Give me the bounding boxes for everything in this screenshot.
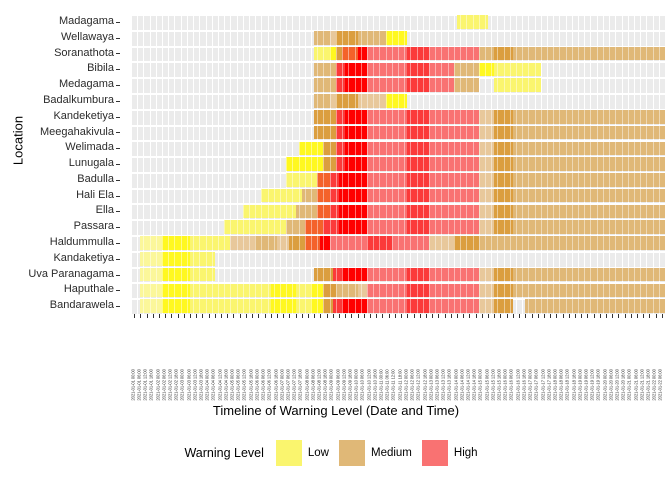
x-axis-tick <box>327 314 328 318</box>
gridline-vertical-overlay <box>653 14 654 314</box>
gridline-vertical-overlay <box>628 14 629 314</box>
x-axis-label: 2021-01-19 00:00 <box>578 370 583 401</box>
x-axis-tick <box>370 314 371 318</box>
gridline-vertical-overlay <box>584 14 585 314</box>
heatmap-tile <box>513 47 665 61</box>
x-axis-tick <box>147 314 148 318</box>
y-axis-label: Badulla <box>77 172 114 188</box>
legend-label: Low <box>308 447 329 459</box>
x-axis-label: 2021-01-06 12:00 <box>268 370 273 401</box>
x-axis-tick <box>569 314 570 318</box>
x-axis-tick <box>463 314 464 318</box>
gridline-vertical-overlay <box>292 14 293 314</box>
heatmap-tile <box>162 268 190 282</box>
x-axis-label: 2021-01-10 12:00 <box>367 370 372 401</box>
x-axis-tick <box>227 314 228 318</box>
x-axis-label: 2021-01-21 12:00 <box>640 370 645 401</box>
x-axis-tick <box>494 314 495 318</box>
gridline-vertical-overlay <box>622 14 623 314</box>
gridline-vertical-overlay <box>528 14 529 314</box>
gridline-vertical-overlay <box>243 14 244 314</box>
y-axis-tick <box>116 148 120 149</box>
y-axis-tick <box>116 243 120 244</box>
x-axis-tick <box>507 314 508 318</box>
gridline-vertical-overlay <box>640 14 641 314</box>
y-axis-label: Medagama <box>59 77 114 93</box>
gridline-vertical-overlay <box>174 14 175 314</box>
x-axis-label: 2021-01-20 00:00 <box>603 370 608 401</box>
x-axis-tick <box>401 314 402 318</box>
gridline-vertical-overlay <box>398 14 399 314</box>
heatmap-tile <box>336 63 345 77</box>
y-axis-label: Bandarawela <box>50 298 114 314</box>
x-axis-label: 2021-01-12 06:00 <box>411 370 416 401</box>
x-axis-tick <box>351 314 352 318</box>
x-axis-label: 2021-01-16 06:00 <box>510 370 515 401</box>
heatmap-tile <box>333 299 342 313</box>
x-axis-tick <box>296 314 297 318</box>
x-axis-tick <box>246 314 247 318</box>
gridline-vertical-overlay <box>317 14 318 314</box>
heatmap-tile <box>339 205 367 219</box>
x-axis-tick <box>618 314 619 318</box>
x-axis-label: 2021-01-14 00:00 <box>454 370 459 401</box>
gridline-vertical-overlay <box>473 14 474 314</box>
x-axis-tick <box>550 314 551 318</box>
gridline-vertical-overlay <box>646 14 647 314</box>
x-axis-tick <box>289 314 290 318</box>
x-axis-label: 2021-01-08 06:00 <box>311 370 316 401</box>
legend-key <box>422 440 448 466</box>
gridline-vertical-overlay <box>355 14 356 314</box>
x-axis-tick <box>625 314 626 318</box>
gridline-vertical-overlay <box>193 14 194 314</box>
x-axis-tick <box>339 314 340 318</box>
gridline-vertical-overlay <box>361 14 362 314</box>
y-axis-tick <box>116 211 120 212</box>
x-axis-tick <box>395 314 396 318</box>
legend-swatch-low <box>276 440 302 466</box>
gridline-vertical-overlay <box>311 14 312 314</box>
x-axis-label: 2021-01-05 00:00 <box>230 370 235 401</box>
y-axis-label: Ella <box>96 203 114 219</box>
y-axis-tick <box>116 69 120 70</box>
x-axis-label: 2021-01-12 18:00 <box>423 370 428 401</box>
x-axis-ticks <box>131 314 665 318</box>
x-axis-tick <box>451 314 452 318</box>
heatmap-tile <box>358 47 367 61</box>
x-axis-tick <box>587 314 588 318</box>
heatmap-tile <box>513 157 665 171</box>
y-axis-label: Soranathota <box>54 46 114 62</box>
y-axis-tick <box>116 180 120 181</box>
gridline-vertical-overlay <box>572 14 573 314</box>
x-axis-label: 2021-01-08 00:00 <box>305 370 310 401</box>
y-axis-tick-labels: MadagamaWellawayaSoranathotaBibilaMedaga… <box>0 14 122 314</box>
x-axis-label: 2021-01-01 06:00 <box>137 370 142 401</box>
gridline-vertical-overlay <box>299 14 300 314</box>
gridline-vertical-overlay <box>417 14 418 314</box>
y-axis-label: Uva Paranagama <box>28 267 114 283</box>
x-axis-label: 2021-01-10 06:00 <box>361 370 366 401</box>
y-axis-label: Lunugala <box>69 156 114 172</box>
x-axis-label: 2021-01-03 06:00 <box>187 370 192 401</box>
x-axis-tick <box>426 314 427 318</box>
x-axis-label: 2021-01-06 18:00 <box>274 370 279 401</box>
x-axis-tick <box>277 314 278 318</box>
heatmap-tile <box>320 236 329 250</box>
gridline-vertical-overlay <box>249 14 250 314</box>
y-axis-label: Haputhale <box>64 282 114 298</box>
x-axis-label: 2021-01-04 12:00 <box>218 370 223 401</box>
gridline-vertical-overlay <box>261 14 262 314</box>
x-axis-tick <box>240 314 241 318</box>
gridline-vertical-overlay <box>559 14 560 314</box>
x-axis-tick <box>333 314 334 318</box>
x-axis-label: 2021-01-22 06:00 <box>659 370 664 401</box>
x-axis-tick <box>265 314 266 318</box>
legend-item[interactable]: Medium <box>339 440 412 466</box>
x-axis-label: 2021-01-16 12:00 <box>516 370 521 401</box>
heatmap-tile <box>162 299 190 313</box>
gridline-vertical-overlay <box>237 14 238 314</box>
x-axis-label: 2021-01-10 18:00 <box>373 370 378 401</box>
y-axis-label: Kandeketiya <box>53 109 114 125</box>
x-axis-label: 2021-01-02 12:00 <box>168 370 173 401</box>
y-axis-tick <box>116 227 120 228</box>
x-axis-label: 2021-01-20 06:00 <box>609 370 614 401</box>
gridline-vertical-overlay <box>435 14 436 314</box>
x-axis-tick <box>202 314 203 318</box>
heatmap-tile <box>286 173 317 187</box>
x-axis-tick <box>358 314 359 318</box>
gridline-vertical-overlay <box>305 14 306 314</box>
x-axis-tick <box>252 314 253 318</box>
legend-key <box>339 440 365 466</box>
legend-swatch-medium <box>339 440 365 466</box>
x-axis-label: 2021-01-02 00:00 <box>156 370 161 401</box>
gridline-vertical-overlay <box>392 14 393 314</box>
gridline-vertical-overlay <box>522 14 523 314</box>
gridline-vertical-overlay <box>504 14 505 314</box>
gridline-vertical-overlay <box>162 14 163 314</box>
x-axis-label: 2021-01-01 18:00 <box>150 370 155 401</box>
y-axis-label: Meegahakivula <box>40 125 114 141</box>
x-axis-label: 2021-01-15 18:00 <box>497 370 502 401</box>
gridline-vertical-overlay <box>423 14 424 314</box>
x-axis-tick <box>376 314 377 318</box>
gridline-vertical-overlay <box>609 14 610 314</box>
x-axis-label: 2021-01-12 12:00 <box>417 370 422 401</box>
heatmap-tile <box>330 189 339 203</box>
y-axis-tick <box>116 38 120 39</box>
legend-item[interactable]: Low <box>276 440 329 466</box>
heatmap-tile <box>513 268 665 282</box>
x-axis-tick <box>190 314 191 318</box>
y-axis-tick <box>116 85 120 86</box>
x-axis-tick <box>414 314 415 318</box>
x-axis-tick <box>308 314 309 318</box>
x-axis-tick <box>656 314 657 318</box>
x-axis-tick <box>302 314 303 318</box>
heatmap-tile <box>513 173 665 187</box>
x-axis-tick <box>389 314 390 318</box>
gridline-vertical-overlay <box>230 14 231 314</box>
gridline-vertical-overlay <box>373 14 374 314</box>
x-axis-label: 2021-01-18 12:00 <box>566 370 571 401</box>
x-axis-label: 2021-01-17 00:00 <box>529 370 534 401</box>
heatmap-tile <box>358 284 367 298</box>
x-axis-label: 2021-01-08 12:00 <box>317 370 322 401</box>
gridline-vertical-overlay <box>379 14 380 314</box>
gridline-vertical-overlay <box>143 14 144 314</box>
gridline-vertical-overlay <box>156 14 157 314</box>
gridline-vertical-overlay <box>590 14 591 314</box>
x-axis-tick <box>314 314 315 318</box>
x-axis-label: 2021-01-06 06:00 <box>262 370 267 401</box>
x-axis-tick <box>407 314 408 318</box>
heatmap-tile <box>336 142 345 156</box>
x-axis-label: 2021-01-21 00:00 <box>628 370 633 401</box>
x-axis-tick <box>519 314 520 318</box>
x-axis-label: 2021-01-01 12:00 <box>144 370 149 401</box>
heatmap-tile <box>513 205 665 219</box>
x-axis-label: 2021-01-18 00:00 <box>553 370 558 401</box>
x-axis-tick <box>320 314 321 318</box>
x-axis-tick <box>283 314 284 318</box>
gridline-vertical-overlay <box>168 14 169 314</box>
x-axis-label: 2021-01-16 18:00 <box>522 370 527 401</box>
heatmap-tile <box>336 126 345 140</box>
chart-root: Location MadagamaWellawayaSoranathotaBib… <box>0 0 672 480</box>
x-axis-label: 2021-01-11 18:00 <box>398 370 403 401</box>
x-axis-tick <box>525 314 526 318</box>
x-axis-tick <box>513 314 514 318</box>
x-axis-tick <box>209 314 210 318</box>
x-axis-tick <box>532 314 533 318</box>
legend-swatch-high <box>422 440 448 466</box>
gridline-vertical-overlay <box>274 14 275 314</box>
heatmap-tile <box>162 284 190 298</box>
gridline-vertical-overlay <box>137 14 138 314</box>
y-axis-tick <box>116 290 120 291</box>
x-axis-tick <box>215 314 216 318</box>
x-axis-tick <box>649 314 650 318</box>
x-axis-tick <box>637 314 638 318</box>
x-axis-tick <box>643 314 644 318</box>
x-axis-label: 2021-01-09 00:00 <box>330 370 335 401</box>
y-axis-tick <box>116 164 120 165</box>
heatmap-tile <box>339 189 367 203</box>
x-axis-label: 2021-01-09 12:00 <box>342 370 347 401</box>
gridline-vertical-overlay <box>466 14 467 314</box>
y-axis-label: Haldummulla <box>50 235 114 251</box>
heatmap-tile <box>358 31 386 45</box>
x-axis-label: 2021-01-03 12:00 <box>193 370 198 401</box>
y-axis-tick <box>116 259 120 260</box>
y-axis-tick <box>116 196 120 197</box>
gridline-vertical-overlay <box>541 14 542 314</box>
heatmap-tile <box>336 78 345 92</box>
x-axis-tick <box>600 314 601 318</box>
gridline-vertical-overlay <box>255 14 256 314</box>
x-axis-label: 2021-01-20 12:00 <box>615 370 620 401</box>
legend-label: Medium <box>371 447 412 459</box>
legend-label: High <box>454 447 478 459</box>
x-axis-label: 2021-01-04 18:00 <box>224 370 229 401</box>
y-axis-label: Welimada <box>65 140 114 156</box>
heatmap-tile <box>513 220 665 234</box>
x-axis-label: 2021-01-06 00:00 <box>255 370 260 401</box>
heatmap-tile <box>513 126 665 140</box>
gridline-vertical-overlay <box>224 14 225 314</box>
gridline-vertical-overlay <box>150 14 151 314</box>
x-axis-label: 2021-01-07 18:00 <box>299 370 304 401</box>
heatmap-tile <box>330 173 339 187</box>
gridline-vertical-overlay <box>348 14 349 314</box>
x-axis-label: 2021-01-09 18:00 <box>348 370 353 401</box>
gridline-vertical-overlay <box>429 14 430 314</box>
x-axis-tick <box>445 314 446 318</box>
gridline-vertical-overlay <box>199 14 200 314</box>
x-axis-label: 2021-01-13 18:00 <box>448 370 453 401</box>
gridline-vertical-overlay <box>615 14 616 314</box>
gridline-vertical-overlay <box>460 14 461 314</box>
x-axis-tick <box>196 314 197 318</box>
x-axis-label: 2021-01-13 06:00 <box>435 370 440 401</box>
gridline-vertical-overlay <box>181 14 182 314</box>
heatmap-tile <box>513 142 665 156</box>
x-axis-tick <box>606 314 607 318</box>
x-axis-label: 2021-01-15 00:00 <box>479 370 484 401</box>
x-axis-tick <box>594 314 595 318</box>
heatmap-tile <box>243 205 296 219</box>
heatmap-tile <box>339 220 367 234</box>
heatmap-tile <box>333 268 342 282</box>
x-axis-tick <box>438 314 439 318</box>
x-axis-label: 2021-01-07 06:00 <box>286 370 291 401</box>
gridline-vertical-overlay <box>516 14 517 314</box>
x-axis-tick <box>662 314 663 318</box>
gridline-vertical-overlay <box>187 14 188 314</box>
gridline-vertical-overlay <box>578 14 579 314</box>
x-axis-tick <box>271 314 272 318</box>
heatmap-tile <box>358 94 386 108</box>
x-axis-label: 2021-01-05 12:00 <box>243 370 248 401</box>
x-axis-label: 2021-01-18 18:00 <box>572 370 577 401</box>
x-axis-tick <box>457 314 458 318</box>
x-axis-tick <box>345 314 346 318</box>
gridline-vertical-overlay <box>268 14 269 314</box>
x-axis-label: 2021-01-05 18:00 <box>249 370 254 401</box>
x-axis-tick <box>153 314 154 318</box>
y-axis-tick <box>116 306 120 307</box>
gridline-vertical-overlay <box>330 14 331 314</box>
legend-key <box>276 440 302 466</box>
x-axis-tick <box>171 314 172 318</box>
gridline-vertical-overlay <box>603 14 604 314</box>
gridline-vertical-overlay <box>367 14 368 314</box>
x-axis-tick-labels: 2021-01-01 00:002021-01-01 06:002021-01-… <box>131 319 665 401</box>
x-axis-label: 2021-01-19 06:00 <box>584 370 589 401</box>
heatmap-tile <box>286 220 305 234</box>
x-axis-tick <box>159 314 160 318</box>
y-axis-tick <box>116 22 120 23</box>
heatmap-tile <box>336 157 345 171</box>
x-axis-tick <box>221 314 222 318</box>
x-axis-tick <box>469 314 470 318</box>
gridline-vertical-overlay <box>535 14 536 314</box>
y-axis-label: Wellawaya <box>61 30 114 46</box>
gridline-vertical-overlay <box>547 14 548 314</box>
x-axis-label: 2021-01-01 00:00 <box>131 370 136 401</box>
x-axis-tick <box>538 314 539 318</box>
x-axis-tick <box>184 314 185 318</box>
x-axis-tick <box>134 314 135 318</box>
gridline-vertical-overlay <box>206 14 207 314</box>
gridline-vertical-overlay <box>386 14 387 314</box>
x-axis-tick <box>258 314 259 318</box>
x-axis-tick <box>476 314 477 318</box>
x-axis-label: 2021-01-15 12:00 <box>491 370 496 401</box>
x-axis-label: 2021-01-17 06:00 <box>535 370 540 401</box>
gridline-vertical-overlay <box>441 14 442 314</box>
x-axis-tick <box>575 314 576 318</box>
gridline-vertical-overlay <box>597 14 598 314</box>
gridline-vertical-overlay <box>131 14 132 314</box>
x-axis-tick <box>488 314 489 318</box>
x-axis-label: 2021-01-07 00:00 <box>280 370 285 401</box>
gridline-vertical-overlay <box>323 14 324 314</box>
x-axis-label: 2021-01-11 00:00 <box>379 370 384 401</box>
x-axis-label: 2021-01-17 12:00 <box>541 370 546 401</box>
gridline-vertical-overlay <box>497 14 498 314</box>
heatmap-tile <box>162 236 190 250</box>
x-axis-tick <box>631 314 632 318</box>
x-axis-label: 2021-01-03 00:00 <box>181 370 186 401</box>
heatmap-tile <box>330 205 339 219</box>
y-axis-label: Madagama <box>59 14 114 30</box>
legend: Warning Level LowMediumHigh <box>0 440 672 466</box>
gridline-vertical-overlay <box>410 14 411 314</box>
y-axis-tick <box>116 117 120 118</box>
y-axis-label: Badalkumbura <box>43 93 114 109</box>
x-axis-tick <box>233 314 234 318</box>
y-axis-tick <box>116 275 120 276</box>
gridline-vertical-overlay <box>448 14 449 314</box>
legend-item[interactable]: High <box>422 440 478 466</box>
y-axis-tick <box>116 53 120 54</box>
legend-title: Warning Level <box>184 446 263 460</box>
x-axis-tick <box>556 314 557 318</box>
x-axis-label: 2021-01-09 06:00 <box>336 370 341 401</box>
x-axis-label: 2021-01-14 06:00 <box>460 370 465 401</box>
y-axis-label: Kandaketiya <box>53 251 114 267</box>
y-axis-label: Bibila <box>87 61 114 77</box>
y-axis-label: Passara <box>74 219 114 235</box>
heatmap-tile <box>336 110 345 124</box>
x-axis-label: 2021-01-13 00:00 <box>429 370 434 401</box>
heatmap-tile <box>277 236 289 250</box>
x-axis-label: 2021-01-04 06:00 <box>212 370 217 401</box>
heatmap-tile <box>305 220 324 234</box>
y-axis-label: Hali Ela <box>76 188 114 204</box>
x-axis-tick <box>364 314 365 318</box>
gridline-vertical-overlay <box>485 14 486 314</box>
gridline-vertical-overlay <box>342 14 343 314</box>
x-axis-tick <box>420 314 421 318</box>
gridline-vertical-overlay <box>491 14 492 314</box>
